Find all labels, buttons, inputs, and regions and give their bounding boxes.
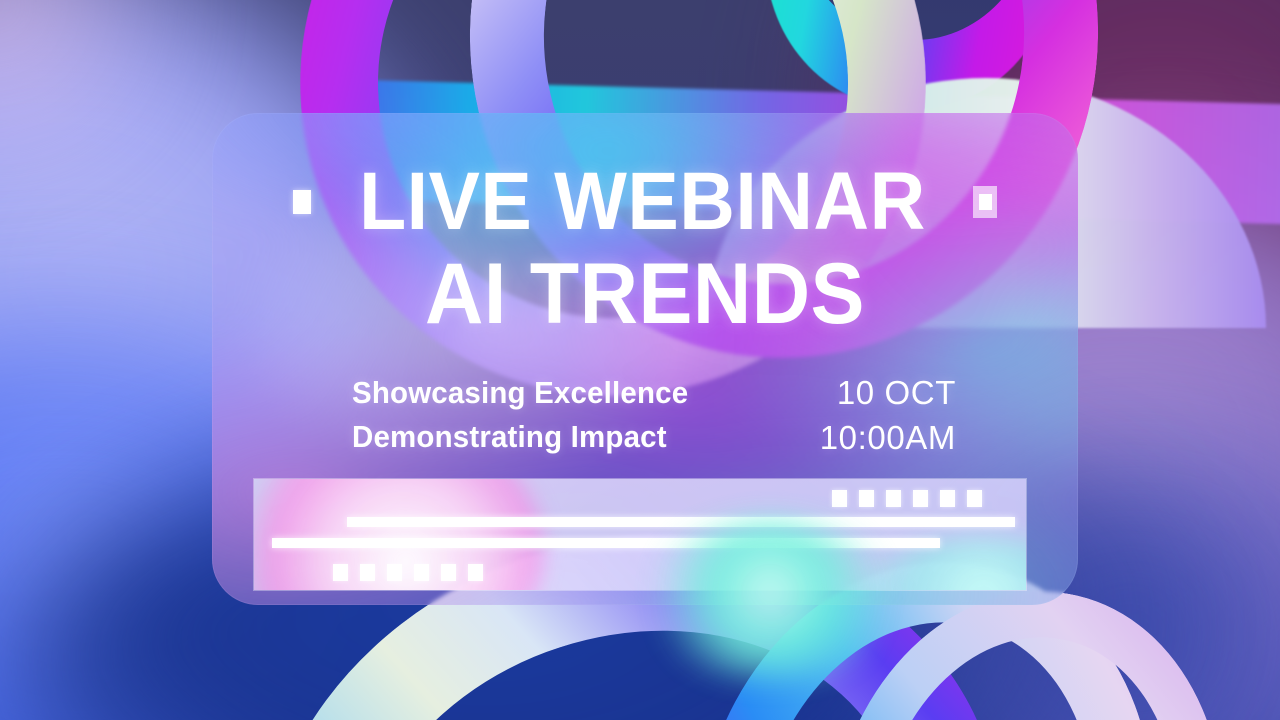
tagline-line-1: Showcasing Excellence <box>352 371 688 415</box>
dot-square-icon <box>387 564 402 581</box>
decorative-bar-upper <box>347 517 1015 527</box>
nested-square-marker-icon <box>973 186 997 218</box>
decorative-bar-lower <box>272 538 940 548</box>
bottom-panel <box>254 479 1026 590</box>
event-date: 10 OCT <box>820 371 956 416</box>
dot-square-icon <box>441 564 456 581</box>
dot-square-icon <box>859 490 874 507</box>
schedule-block: 10 OCT 10:00AM <box>820 371 956 461</box>
headline-row: LIVE WEBINAR <box>212 163 1078 242</box>
tagline-line-2: Demonstrating Impact <box>352 415 688 459</box>
page-subtitle-heading: AI TRENDS <box>425 253 865 336</box>
dot-square-icon <box>913 490 928 507</box>
card-content: LIVE WEBINAR AI TRENDS Showcasing Excell… <box>212 113 1078 605</box>
dot-square-icon <box>414 564 429 581</box>
headline-secondary-row: AI TRENDS <box>212 253 1078 336</box>
dot-square-icon <box>886 490 901 507</box>
square-marker-icon <box>293 190 311 214</box>
dot-square-icon <box>468 564 483 581</box>
poster-canvas: LIVE WEBINAR AI TRENDS Showcasing Excell… <box>0 0 1280 720</box>
dot-square-icon <box>333 564 348 581</box>
tagline-block: Showcasing Excellence Demonstrating Impa… <box>352 371 706 459</box>
dot-row-top <box>832 490 982 507</box>
page-title: LIVE WEBINAR <box>359 163 926 242</box>
dot-row-bottom <box>333 564 483 581</box>
dot-square-icon <box>967 490 982 507</box>
dot-square-icon <box>360 564 375 581</box>
event-time: 10:00AM <box>820 416 956 461</box>
dot-square-icon <box>940 490 955 507</box>
poster-card: LIVE WEBINAR AI TRENDS Showcasing Excell… <box>212 113 1078 605</box>
info-row: Showcasing Excellence Demonstrating Impa… <box>352 371 956 461</box>
dot-square-icon <box>832 490 847 507</box>
